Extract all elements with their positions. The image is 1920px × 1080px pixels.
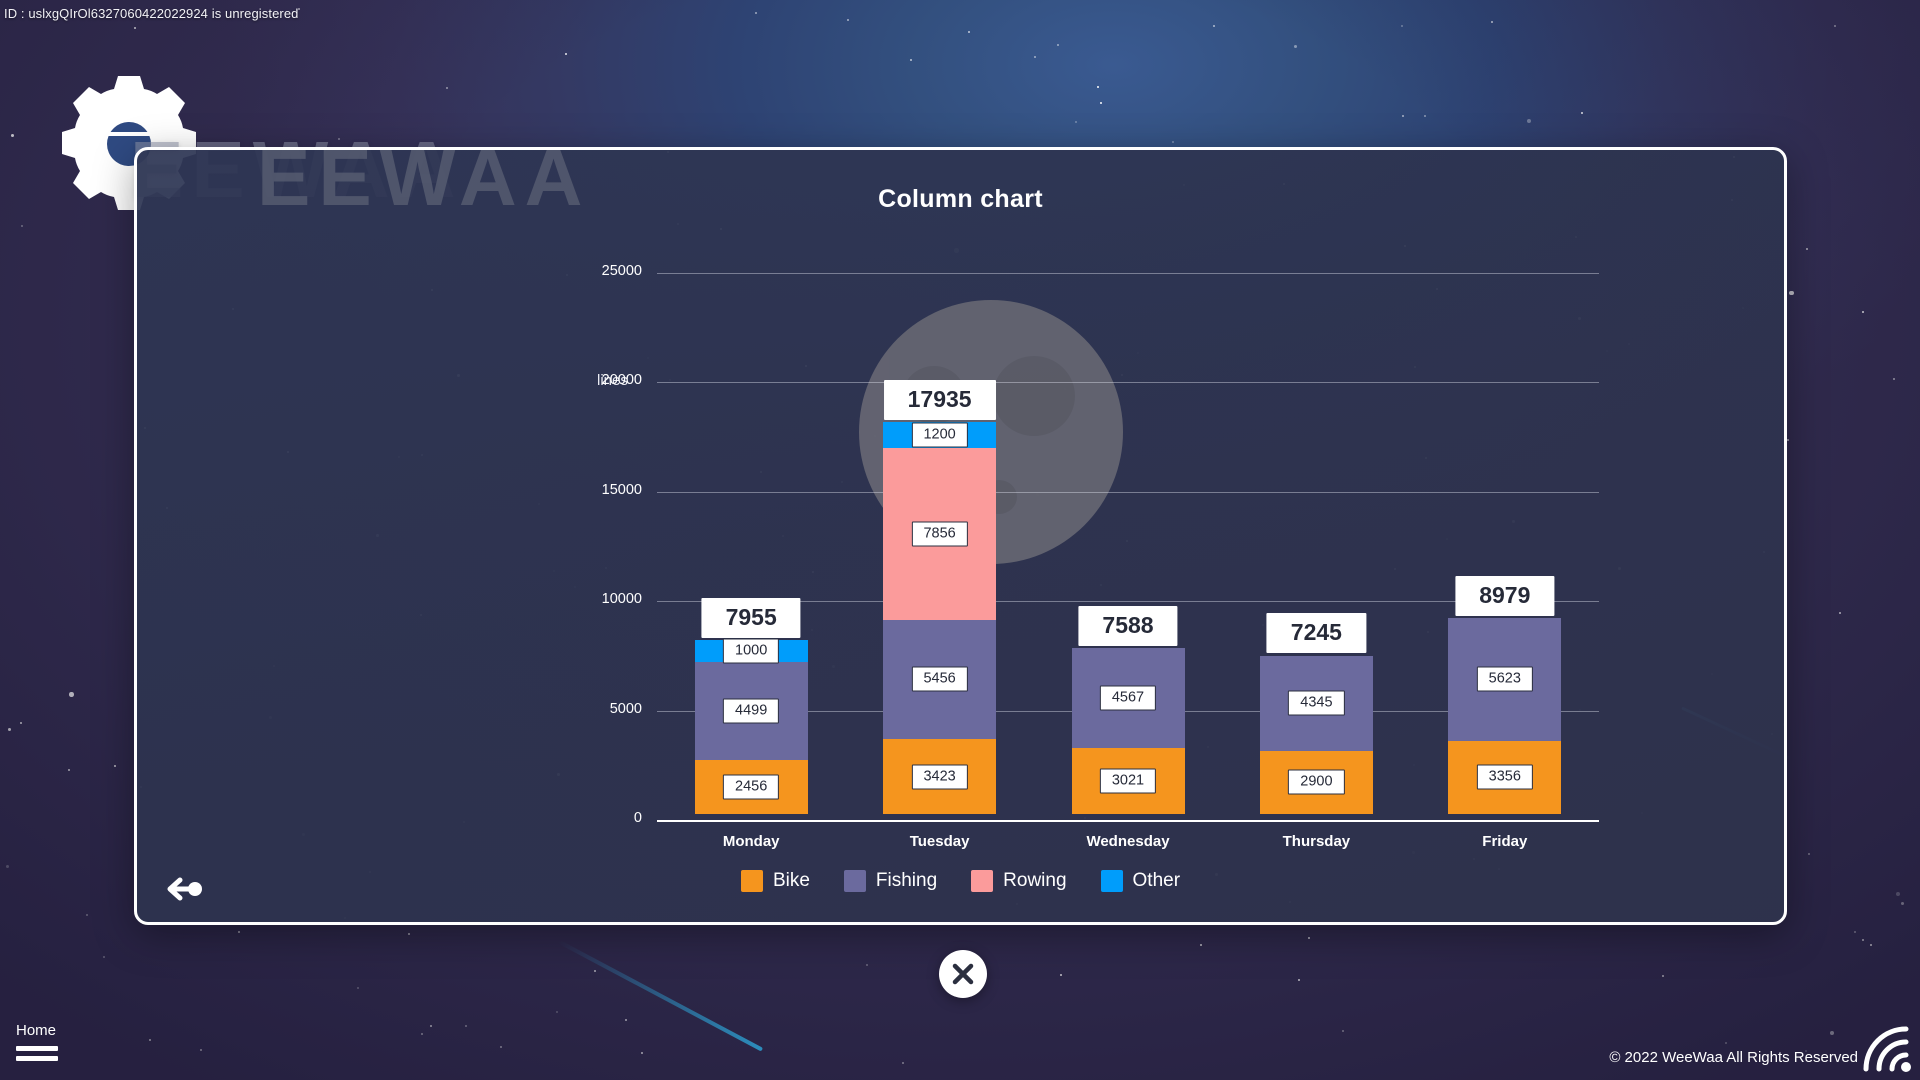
legend-label: Bike (773, 870, 810, 892)
bar-segment[interactable]: 2900 (1260, 751, 1373, 814)
legend-item[interactable]: Fishing (844, 870, 937, 892)
bar-segment-value-label: 4567 (1100, 685, 1156, 710)
chart-legend: BikeFishingRowingOther (137, 870, 1784, 892)
signal-waves-icon (1858, 1021, 1916, 1078)
star (357, 987, 359, 989)
bar-column[interactable]: 245644991000 (695, 640, 808, 814)
bar-segment-value-label: 7856 (911, 521, 967, 546)
bar-total-label: 7955 (702, 598, 801, 638)
star (11, 134, 14, 137)
star (465, 1025, 467, 1027)
star (1060, 974, 1062, 976)
legend-item[interactable]: Rowing (971, 870, 1066, 892)
chart-card: EEWAA Column chart linesDays050001000015… (134, 147, 1787, 925)
star (1308, 937, 1310, 939)
star (1901, 902, 1904, 905)
bar-segment-value-label: 3356 (1477, 765, 1533, 790)
x-axis-category-label: Monday (723, 833, 780, 850)
comet (558, 940, 763, 1052)
x-axis-category-label: Wednesday (1086, 833, 1169, 850)
gridline (657, 492, 1599, 493)
bar-segment-value-label: 3423 (911, 764, 967, 789)
legend-swatch (971, 870, 993, 892)
bar-total-label: 7245 (1267, 613, 1366, 653)
star (20, 722, 22, 724)
bar-segment[interactable]: 4499 (695, 662, 808, 760)
star (1870, 944, 1872, 946)
legend-item[interactable]: Other (1101, 870, 1181, 892)
x-axis-category-label: Thursday (1283, 833, 1351, 850)
copyright-text: © 2022 WeeWaa All Rights Reserved (1609, 1049, 1858, 1066)
star (1294, 45, 1297, 48)
star (1862, 939, 1864, 941)
star (8, 728, 11, 731)
star (238, 931, 240, 933)
legend-swatch (741, 870, 763, 892)
star (1527, 119, 1532, 124)
bar-segment[interactable]: 5623 (1448, 618, 1561, 741)
star (1806, 248, 1808, 250)
star (500, 1046, 502, 1048)
star (1034, 56, 1036, 58)
bar-total-label: 8979 (1455, 576, 1554, 616)
bar-segment-value-label: 4345 (1288, 691, 1344, 716)
star (594, 970, 596, 972)
star (114, 765, 116, 767)
star (430, 1025, 432, 1027)
bar-column[interactable]: 29004345 (1260, 655, 1373, 814)
star (625, 1019, 627, 1021)
bar-column[interactable]: 3423545678561200 (883, 422, 996, 814)
bar-column[interactable]: 33565623 (1448, 618, 1561, 814)
back-arrow-icon[interactable] (162, 874, 206, 904)
app-root: ID : uslxgQIrOl6327060422022924 is unreg… (0, 0, 1920, 1080)
bar-segment-value-label: 1200 (911, 422, 967, 447)
registration-notice: ID : uslxgQIrOl6327060422022924 is unreg… (4, 6, 299, 21)
star (1075, 121, 1077, 123)
y-axis-tick: 10000 (552, 591, 642, 607)
close-button[interactable] (939, 950, 987, 998)
bar-segment-value-label: 2456 (723, 775, 779, 800)
bar-segment-value-label: 5623 (1477, 667, 1533, 692)
star (21, 225, 23, 227)
bar-segment-value-label: 2900 (1288, 770, 1344, 795)
x-axis-category-label: Friday (1482, 833, 1527, 850)
star (1424, 115, 1426, 117)
bar-segment[interactable]: 5456 (883, 620, 996, 739)
bar-segment-value-label: 5456 (911, 667, 967, 692)
star (68, 769, 70, 771)
bar-segment[interactable]: 3423 (883, 739, 996, 814)
star (408, 933, 410, 935)
star (1830, 1031, 1835, 1036)
bar-segment[interactable]: 3356 (1448, 741, 1561, 814)
bar-total-label: 7588 (1078, 606, 1177, 646)
menu-bar-icon (16, 1056, 58, 1061)
star (1862, 311, 1864, 313)
bar-column[interactable]: 30214567 (1072, 648, 1185, 814)
chart-plot-area: linesDays0500010000150002000025000245644… (137, 150, 1784, 922)
y-axis-tick: 5000 (552, 701, 642, 717)
star (1725, 1042, 1727, 1044)
star (1834, 25, 1836, 27)
star (1298, 979, 1300, 981)
star (1097, 86, 1099, 88)
star (866, 964, 868, 966)
legend-item[interactable]: Bike (741, 870, 810, 892)
bar-segment[interactable]: 2456 (695, 760, 808, 814)
bar-segment-value-label: 4499 (723, 699, 779, 724)
star (847, 19, 849, 21)
bar-segment[interactable]: 1000 (695, 640, 808, 662)
star (968, 31, 970, 33)
star (69, 692, 74, 697)
star (755, 12, 757, 14)
star (1342, 1030, 1344, 1032)
legend-label: Fishing (876, 870, 937, 892)
star (1057, 44, 1059, 46)
y-axis-tick: 0 (552, 810, 642, 826)
star (421, 1033, 423, 1035)
home-menu-button[interactable]: Home (16, 1021, 58, 1061)
star (200, 1049, 202, 1051)
bar-segment-value-label: 1000 (723, 638, 779, 663)
star (1854, 931, 1856, 933)
home-label: Home (16, 1021, 58, 1041)
star (1581, 112, 1583, 114)
close-icon (950, 961, 976, 987)
star (1893, 378, 1895, 380)
star (1172, 141, 1174, 143)
bar-segment[interactable]: 1200 (883, 422, 996, 448)
y-axis-tick: 15000 (552, 482, 642, 498)
star (1402, 115, 1404, 117)
x-axis-category-label: Tuesday (910, 833, 970, 850)
gridline (657, 382, 1599, 383)
star (1401, 25, 1403, 27)
star (1100, 102, 1102, 104)
y-axis-tick: 25000 (552, 263, 642, 279)
bar-segment-value-label: 3021 (1100, 768, 1156, 793)
bar-total-label: 17935 (884, 380, 996, 420)
gridline (657, 273, 1599, 274)
star (86, 914, 88, 916)
menu-bar-icon (16, 1046, 58, 1051)
star (1787, 439, 1789, 441)
star (556, 1011, 558, 1013)
star (641, 1052, 643, 1054)
star (1213, 25, 1215, 27)
star (149, 1039, 151, 1041)
star (6, 865, 9, 868)
star (1789, 291, 1794, 296)
legend-swatch (844, 870, 866, 892)
star (1200, 944, 1202, 946)
bar-segment[interactable]: 4567 (1072, 648, 1185, 748)
star (103, 956, 105, 958)
legend-label: Rowing (1003, 870, 1066, 892)
star (134, 27, 136, 29)
y-axis-tick: 20000 (552, 372, 642, 388)
bar-segment[interactable]: 4345 (1260, 656, 1373, 751)
star (1808, 853, 1810, 855)
legend-label: Other (1133, 870, 1181, 892)
star (565, 53, 567, 55)
star (910, 59, 912, 61)
legend-swatch (1101, 870, 1123, 892)
star (1662, 975, 1664, 977)
star (902, 1062, 904, 1064)
star (1896, 892, 1901, 897)
bar-segment[interactable]: 7856 (883, 448, 996, 620)
x-axis-line (657, 820, 1599, 822)
star (1491, 21, 1493, 23)
star (1839, 612, 1841, 614)
bar-segment[interactable]: 3021 (1072, 748, 1185, 814)
